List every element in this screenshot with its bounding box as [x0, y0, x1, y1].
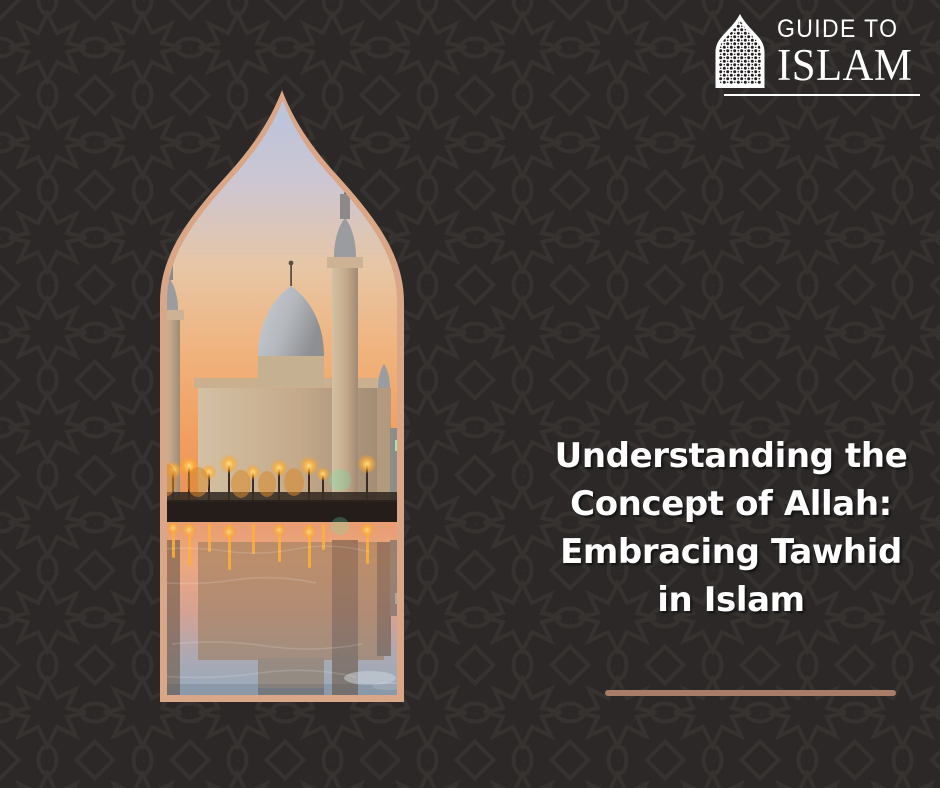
accent-divider — [605, 690, 896, 696]
title-line-4: in Islam — [540, 576, 922, 624]
logo-row: GUIDE TO ISLAM — [712, 14, 920, 90]
page-title: Understanding the Concept of Allah: Embr… — [540, 432, 922, 624]
logo-wordmark: GUIDE TO ISLAM — [777, 17, 920, 90]
logo-line-1: GUIDE TO — [777, 17, 898, 42]
mosque-arch-artwork — [22, 88, 542, 704]
title-line-2: Concept of Allah: — [540, 480, 922, 528]
title-line-3: Embracing Tawhid — [540, 528, 922, 576]
title-line-1: Understanding the — [540, 432, 922, 480]
logo-underline — [724, 94, 920, 96]
mihrab-arch-pattern-icon — [712, 14, 768, 90]
logo-line-2: ISLAM — [777, 43, 912, 88]
brand-logo[interactable]: GUIDE TO ISLAM — [712, 14, 920, 96]
article-cover-canvas: GUIDE TO ISLAM Understanding the Concept… — [0, 0, 940, 788]
